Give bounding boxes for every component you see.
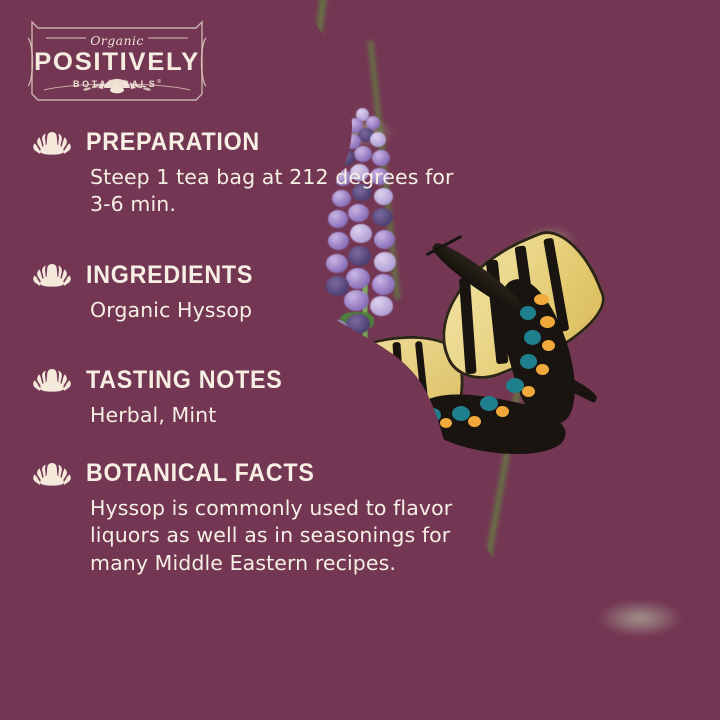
section-body: Organic Hyssop	[90, 297, 470, 324]
badge-organic-text: Organic	[24, 33, 210, 48]
trademark-symbol: ®	[157, 79, 161, 85]
fan-shell-icon	[30, 367, 74, 393]
butterfly-blue-spot	[524, 330, 541, 345]
spacer	[0, 429, 470, 459]
butterfly-eyespot	[542, 340, 555, 351]
fan-shell-icon	[30, 262, 74, 288]
butterfly-blue-spot	[480, 396, 498, 411]
section-ingredients: INGREDIENTS Organic Hyssop	[0, 261, 470, 324]
section-title: INGREDIENTS	[86, 261, 253, 290]
section-header: TASTING NOTES	[0, 366, 470, 395]
section-header: BOTANICAL FACTS	[0, 459, 470, 488]
section-body: Steep 1 tea bag at 212 degrees for 3-6 m…	[90, 164, 470, 219]
badge-brand-sub: BOTANICALS®	[24, 79, 210, 89]
product-info-card: Organic POSITIVELY BOTANICALS®	[0, 0, 720, 720]
butterfly-eyespot	[522, 386, 535, 397]
butterfly-blue-spot	[506, 378, 524, 393]
section-title: BOTANICAL FACTS	[86, 459, 315, 488]
section-body: Hyssop is commonly used to flavor liquor…	[90, 495, 470, 577]
badge-brand-name: POSITIVELY	[21, 48, 213, 77]
butterfly-eyespot	[534, 294, 549, 305]
section-title: TASTING NOTES	[86, 366, 283, 395]
brand-logo-badge[interactable]: Organic POSITIVELY BOTANICALS®	[24, 16, 210, 108]
section-title: PREPARATION	[86, 128, 260, 157]
section-botanical-facts: BOTANICAL FACTS Hyssop is commonly used …	[0, 459, 470, 577]
butterfly-blue-spot	[520, 306, 536, 320]
badge-sub-text: BOTANICALS	[73, 79, 157, 89]
section-body: Herbal, Mint	[90, 402, 470, 429]
butterfly-blue-spot	[520, 354, 537, 369]
section-header: PREPARATION	[0, 128, 470, 157]
butterfly-eyespot	[536, 364, 549, 375]
section-header: INGREDIENTS	[0, 261, 470, 290]
section-preparation: PREPARATION Steep 1 tea bag at 212 degre…	[0, 128, 470, 219]
info-sections: PREPARATION Steep 1 tea bag at 212 degre…	[0, 128, 470, 577]
butterfly-eyespot	[540, 316, 555, 328]
butterfly-eyespot	[496, 406, 509, 417]
section-tasting-notes: TASTING NOTES Herbal, Mint	[0, 366, 470, 429]
fan-shell-icon	[30, 130, 74, 156]
spacer	[0, 219, 470, 261]
spacer	[0, 324, 470, 366]
fan-shell-icon	[30, 461, 74, 487]
